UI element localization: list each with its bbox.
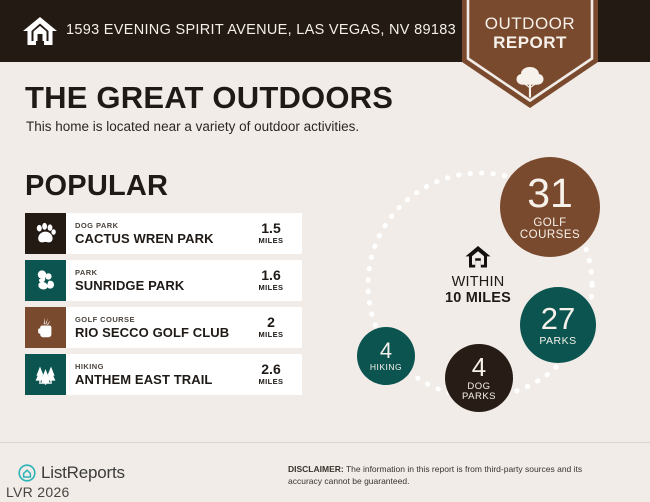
tree-icon: [515, 66, 545, 98]
list-item[interactable]: GOLF COURSE RIO SECCO GOLF CLUB 2 MILES: [25, 307, 302, 348]
home-icon: [22, 13, 58, 49]
stat-count: 31: [527, 173, 573, 214]
home-icon: [465, 245, 491, 269]
stat-bubble-parks[interactable]: 27 PARKS: [520, 287, 596, 363]
park-tree-icon: [25, 260, 66, 301]
list-item-category: DOG PARK: [75, 221, 244, 231]
listreports-logo-text: ListReports: [41, 463, 125, 483]
pine-trees-icon: [25, 354, 66, 395]
list-item-distance-value: 1.5: [261, 221, 280, 236]
list-item-text: DOG PARK CACTUS WREN PARK: [66, 213, 244, 254]
disclaimer-label: DISCLAIMER:: [288, 464, 344, 474]
diagram-center-line1: WITHIN: [424, 274, 532, 290]
list-item-distance-unit: MILES: [259, 236, 284, 246]
list-item[interactable]: DOG PARK CACTUS WREN PARK 1.5 MILES: [25, 213, 302, 254]
stat-count: 4: [472, 354, 486, 380]
diagram-center: WITHIN 10 MILES: [424, 245, 532, 306]
list-item-text: HIKING ANTHEM EAST TRAIL: [66, 354, 244, 395]
list-item-name: SUNRIDGE PARK: [75, 278, 244, 293]
list-item-name: ANTHEM EAST TRAIL: [75, 372, 244, 387]
list-item-distance-value: 1.6: [261, 268, 280, 283]
footer-divider: [0, 442, 650, 443]
popular-heading: POPULAR: [25, 170, 168, 203]
stat-label-line2: PARKS: [462, 392, 496, 402]
stat-count: 4: [380, 340, 392, 362]
stat-label-line2: COURSES: [520, 229, 580, 241]
stat-bubble-hiking[interactable]: 4 HIKING: [357, 327, 415, 385]
lvr-code: LVR 2026: [6, 484, 70, 500]
listreports-logo-icon: [18, 464, 36, 482]
stat-bubble-golf-courses[interactable]: 31 GOLF COURSES: [500, 157, 600, 257]
outdoor-report-badge: OUTDOOR REPORT: [462, 0, 598, 108]
paw-icon: [25, 213, 66, 254]
list-item-distance-unit: MILES: [259, 283, 284, 293]
list-item-distance: 1.5 MILES: [244, 213, 302, 254]
list-item-distance-value: 2.6: [261, 362, 280, 377]
list-item-distance-unit: MILES: [259, 330, 284, 340]
list-item-distance-unit: MILES: [259, 377, 284, 387]
list-item-distance: 1.6 MILES: [244, 260, 302, 301]
list-item[interactable]: HIKING ANTHEM EAST TRAIL 2.6 MILES: [25, 354, 302, 395]
page-title: THE GREAT OUTDOORS: [25, 80, 393, 116]
property-address: 1593 EVENING SPIRIT AVENUE, LAS VEGAS, N…: [66, 22, 456, 38]
stat-label-line1: GOLF: [533, 217, 566, 229]
listreports-logo[interactable]: ListReports: [18, 463, 125, 483]
list-item-category: PARK: [75, 268, 244, 278]
list-item-name: CACTUS WREN PARK: [75, 231, 244, 246]
list-item-name: RIO SECCO GOLF CLUB: [75, 325, 244, 340]
list-item-text: GOLF COURSE RIO SECCO GOLF CLUB: [66, 307, 244, 348]
list-item-distance: 2 MILES: [244, 307, 302, 348]
popular-list: DOG PARK CACTUS WREN PARK 1.5 MILES P: [25, 213, 302, 401]
within-10-miles-diagram: WITHIN 10 MILES 31 GOLF COURSES 27 PARKS…: [330, 140, 650, 430]
outdoor-report-page: 1593 EVENING SPIRIT AVENUE, LAS VEGAS, N…: [0, 0, 650, 502]
list-item-category: GOLF COURSE: [75, 315, 244, 325]
disclaimer: DISCLAIMER: The information in this repo…: [288, 464, 618, 487]
list-item[interactable]: PARK SUNRIDGE PARK 1.6 MILES: [25, 260, 302, 301]
stat-label-line1: HIKING: [370, 363, 402, 372]
stat-count: 27: [541, 303, 575, 334]
stat-bubble-dog-parks[interactable]: 4 DOG PARKS: [445, 344, 513, 412]
diagram-center-line2: 10 MILES: [424, 290, 532, 306]
stat-label-line1: PARKS: [539, 336, 576, 347]
page-subtitle: This home is located near a variety of o…: [26, 119, 359, 134]
list-item-text: PARK SUNRIDGE PARK: [66, 260, 244, 301]
list-item-distance: 2.6 MILES: [244, 354, 302, 395]
list-item-distance-value: 2: [267, 315, 275, 330]
golf-bag-icon: [25, 307, 66, 348]
list-item-category: HIKING: [75, 362, 244, 372]
